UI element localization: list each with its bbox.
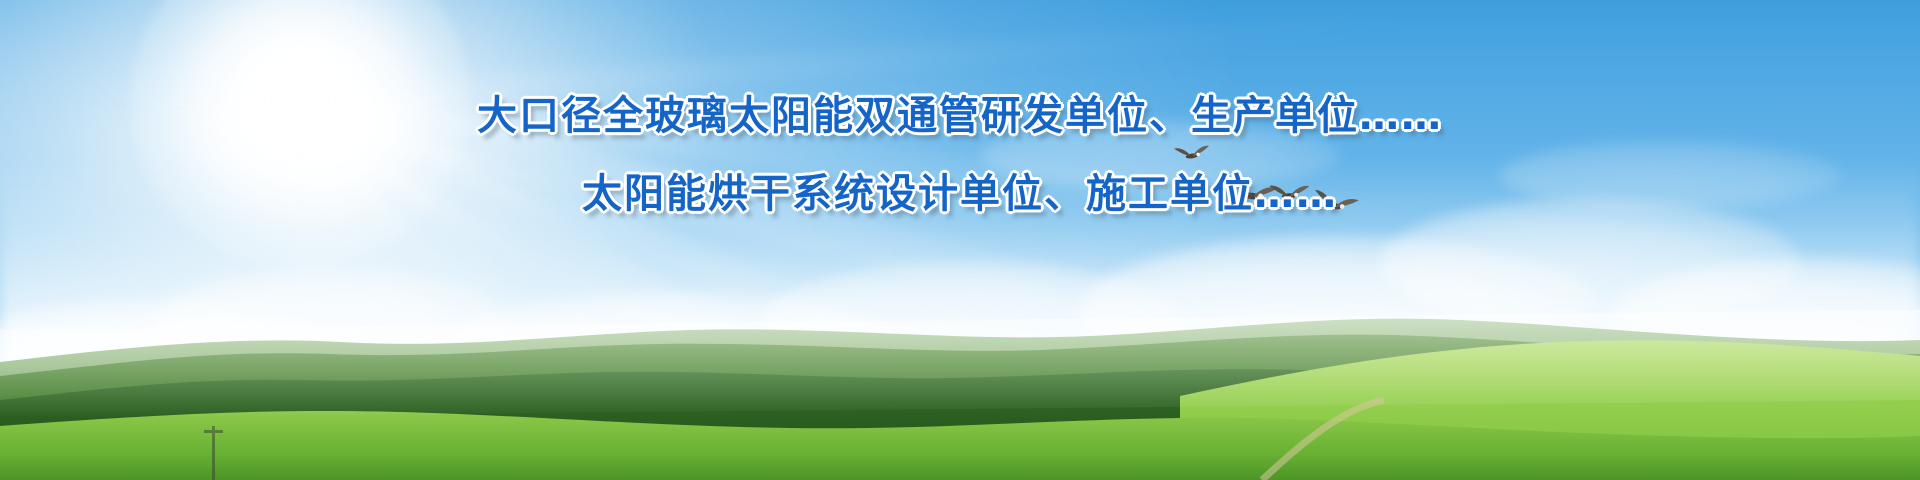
hill-haze <box>0 310 1920 418</box>
headline-line-2: 太阳能烘干系统设计单位、施工单位…… <box>0 174 1920 214</box>
hero-banner: 大口径全玻璃太阳能双通管研发单位、生产单位…… 太阳能烘干系统设计单位、施工单位… <box>0 0 1920 480</box>
headline-line-1: 大口径全玻璃太阳能双通管研发单位、生产单位…… <box>0 96 1920 136</box>
hills-landscape <box>0 250 1920 480</box>
headline-block: 大口径全玻璃太阳能双通管研发单位、生产单位…… 太阳能烘干系统设计单位、施工单位… <box>0 96 1920 214</box>
